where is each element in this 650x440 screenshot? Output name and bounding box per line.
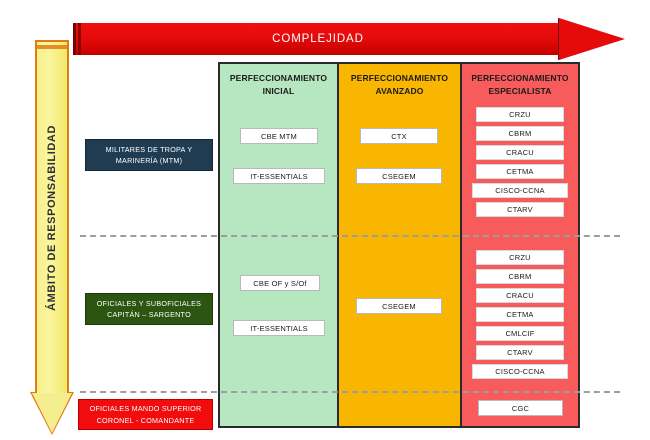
role-box-mando: OFICIALES MANDO SUPERIOR CORONEL - COMAN… — [78, 399, 213, 430]
course-chip-cracu-oficiales: CRACU — [476, 288, 564, 303]
role-box-mando-line2: CORONEL - COMANDANTE — [97, 415, 195, 426]
role-box-tropa-line2: MARINERÍA (MTM) — [116, 155, 182, 166]
course-chip-ctarv-tropa: CTARV — [476, 202, 564, 217]
column-title-avanzado: PERFECCIONAMIENTO AVANZADO — [339, 72, 460, 98]
responsibility-arrow-label: ÁMBITO DE RESPONSABILIDAD — [35, 40, 69, 395]
role-box-mando-line1: OFICIALES MANDO SUPERIOR — [90, 403, 202, 414]
course-chip-it-essentials-tropa: IT-ESSENTIALS — [233, 168, 325, 184]
course-chip-csegem-oficiales: CSEGEM — [356, 298, 442, 314]
column-title-inicial-line2: INICIAL — [220, 85, 337, 98]
responsibility-arrow: ÁMBITO DE RESPONSABILIDAD — [35, 40, 69, 436]
course-chip-cisco-ccna-oficiales: CISCO-CCNA — [472, 364, 568, 379]
column-perfeccionamiento-avanzado: PERFECCIONAMIENTO AVANZADO — [337, 62, 462, 428]
course-chip-cbe-mtm: CBE MTM — [240, 128, 318, 144]
diagram-canvas: COMPLEJIDAD ÁMBITO DE RESPONSABILIDAD PE… — [0, 0, 650, 440]
role-box-tropa-line1: MILITARES DE TROPA Y — [106, 144, 193, 155]
course-chip-cbrm-tropa: CBRM — [476, 126, 564, 141]
column-title-avanzado-line2: AVANZADO — [339, 85, 460, 98]
complexity-arrow: COMPLEJIDAD — [73, 18, 625, 60]
role-box-oficiales-line1: OFICIALES Y SUBOFICIALES — [97, 298, 201, 309]
role-box-oficiales-line2: CAPITÁN – SARGENTO — [107, 309, 191, 320]
column-title-inicial-line1: PERFECCIONAMIENTO — [220, 72, 337, 85]
role-box-tropa: MILITARES DE TROPA Y MARINERÍA (MTM) — [85, 139, 213, 171]
course-chip-crzu-oficiales: CRZU — [476, 250, 564, 265]
course-chip-cracu-tropa: CRACU — [476, 145, 564, 160]
column-title-especialista: PERFECCIONAMIENTO ESPECIALISTA — [462, 72, 578, 98]
column-perfeccionamiento-inicial: PERFECCIONAMIENTO INICIAL — [218, 62, 339, 428]
course-chip-cmlcif-oficiales: CMLCIF — [476, 326, 564, 341]
responsibility-arrow-head-icon — [32, 393, 72, 433]
course-chip-it-essentials-oficiales: IT-ESSENTIALS — [233, 320, 325, 336]
course-chip-cgc: CGC — [478, 400, 563, 416]
complexity-arrow-head-icon — [559, 18, 625, 60]
course-chip-cisco-ccna-tropa: CISCO-CCNA — [472, 183, 568, 198]
course-chip-cetma-oficiales: CETMA — [476, 307, 564, 322]
course-chip-cetma-tropa: CETMA — [476, 164, 564, 179]
role-box-oficiales: OFICIALES Y SUBOFICIALES CAPITÁN – SARGE… — [85, 293, 213, 325]
course-chip-crzu-tropa: CRZU — [476, 107, 564, 122]
row-separator-1 — [80, 235, 620, 237]
responsibility-arrow-label-text: ÁMBITO DE RESPONSABILIDAD — [46, 125, 58, 311]
course-chip-csegem-tropa: CSEGEM — [356, 168, 442, 184]
course-chip-ctarv-oficiales: CTARV — [476, 345, 564, 360]
column-title-especialista-line2: ESPECIALISTA — [462, 85, 578, 98]
complexity-arrow-label: COMPLEJIDAD — [73, 23, 563, 55]
course-chip-cbrm-oficiales: CBRM — [476, 269, 564, 284]
course-chip-cbe-of-ysof: CBE OF y S/Of — [240, 275, 320, 291]
course-chip-ctx: CTX — [360, 128, 438, 144]
column-title-especialista-line1: PERFECCIONAMIENTO — [462, 72, 578, 85]
column-title-avanzado-line1: PERFECCIONAMIENTO — [339, 72, 460, 85]
column-title-inicial: PERFECCIONAMIENTO INICIAL — [220, 72, 337, 98]
row-separator-2 — [80, 391, 620, 393]
